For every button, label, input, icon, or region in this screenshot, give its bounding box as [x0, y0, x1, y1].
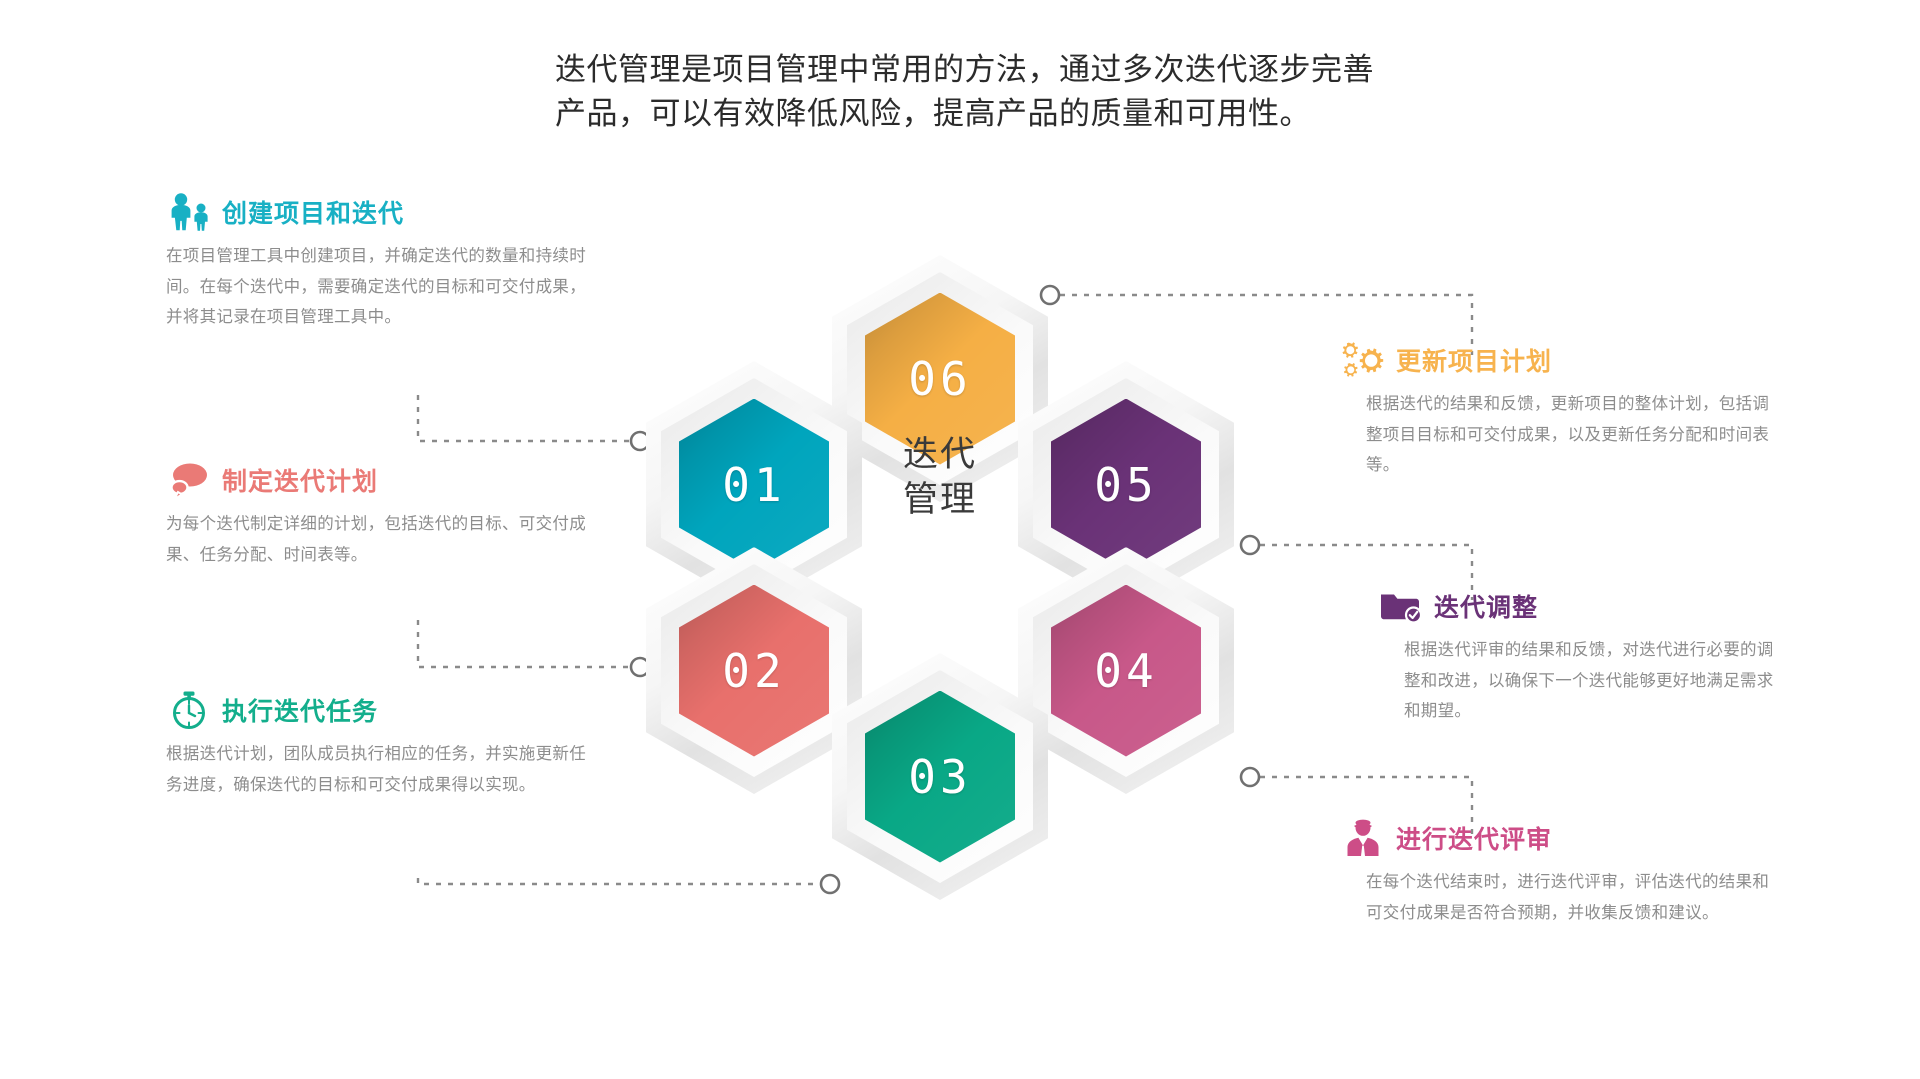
hexagon-cluster: 06 01 05 02 [620, 255, 1260, 905]
info-title: 创建项目和迭代 [222, 194, 404, 230]
info-block-iteration-review[interactable]: 进行迭代评审 在每个迭代结束时，进行迭代评审，评估迭代的结果和可交付成果是否符合… [1340, 818, 1780, 928]
info-title: 制定迭代计划 [222, 462, 378, 498]
info-title: 更新项目计划 [1396, 342, 1552, 378]
info-title: 执行迭代任务 [222, 692, 378, 728]
hexagon-02-number: 02 [722, 644, 785, 698]
info-header: 迭代调整 [1378, 586, 1788, 626]
info-description: 根据迭代评审的结果和反馈，对迭代进行必要的调整和改进，以确保下一个迭代能够更好地… [1378, 635, 1788, 727]
info-block-update-plan[interactable]: 更新项目计划 根据迭代的结果和反馈，更新项目的整体计划，包括调整项目目标和可交付… [1340, 340, 1780, 481]
infographic-canvas: 迭代管理是项目管理中常用的方法，通过多次迭代逐步完善 产品，可以有效降低风险，提… [0, 0, 1920, 1079]
info-description: 根据迭代计划，团队成员执行相应的任务，并实施更新任务进度，确保迭代的目标和可交付… [166, 739, 586, 800]
info-title: 进行迭代评审 [1396, 820, 1552, 856]
people-icon [166, 192, 212, 232]
speech-bubble-icon [166, 460, 212, 500]
center-label-line1: 迭代 [850, 433, 1030, 478]
info-block-execute-tasks[interactable]: 执行迭代任务 根据迭代计划，团队成员执行相应的任务，并实施更新任务进度，确保迭代… [166, 690, 586, 800]
center-label: 迭代 管理 [850, 433, 1030, 523]
stopwatch-icon [166, 690, 212, 730]
hexagon-03-number: 03 [908, 750, 971, 804]
hexagon-05-number: 05 [1094, 458, 1157, 512]
hexagon-02[interactable]: 02 [646, 547, 862, 794]
info-block-create-project[interactable]: 创建项目和迭代 在项目管理工具中创建项目，并确定迭代的数量和持续时间。在每个迭代… [166, 192, 596, 333]
info-header: 创建项目和迭代 [166, 192, 596, 232]
info-description: 根据迭代的结果和反馈，更新项目的整体计划，包括调整项目目标和可交付成果，以及更新… [1340, 389, 1780, 481]
info-description: 在每个迭代结束时，进行迭代评审，评估迭代的结果和可交付成果是否符合预期，并收集反… [1340, 867, 1780, 928]
hexagon-01-number: 01 [722, 458, 785, 512]
folder-check-icon [1378, 586, 1424, 626]
hexagon-03[interactable]: 03 [832, 653, 1048, 900]
hexagon-04[interactable]: 04 [1018, 547, 1234, 794]
center-label-line2: 管理 [850, 478, 1030, 523]
info-title: 迭代调整 [1434, 588, 1538, 624]
info-block-plan-iteration[interactable]: 制定迭代计划 为每个迭代制定详细的计划，包括迭代的目标、可交付成果、任务分配、时… [166, 460, 586, 570]
info-header: 制定迭代计划 [166, 460, 586, 500]
hexagon-04-number: 04 [1094, 644, 1157, 698]
connector-left-2 [418, 620, 630, 667]
info-description: 在项目管理工具中创建项目，并确定迭代的数量和持续时间。在每个迭代中，需要确定迭代… [166, 241, 596, 333]
hexagon-06-number: 06 [908, 352, 971, 406]
info-header: 执行迭代任务 [166, 690, 586, 730]
connector-left-1 [418, 395, 630, 441]
info-header: 进行迭代评审 [1340, 818, 1780, 858]
info-block-iteration-adjust[interactable]: 迭代调整 根据迭代评审的结果和反馈，对迭代进行必要的调整和改进，以确保下一个迭代… [1378, 586, 1788, 727]
gears-icon [1340, 340, 1386, 380]
reviewer-person-icon [1340, 818, 1386, 858]
info-header: 更新项目计划 [1340, 340, 1780, 380]
info-description: 为每个迭代制定详细的计划，包括迭代的目标、可交付成果、任务分配、时间表等。 [166, 509, 586, 570]
